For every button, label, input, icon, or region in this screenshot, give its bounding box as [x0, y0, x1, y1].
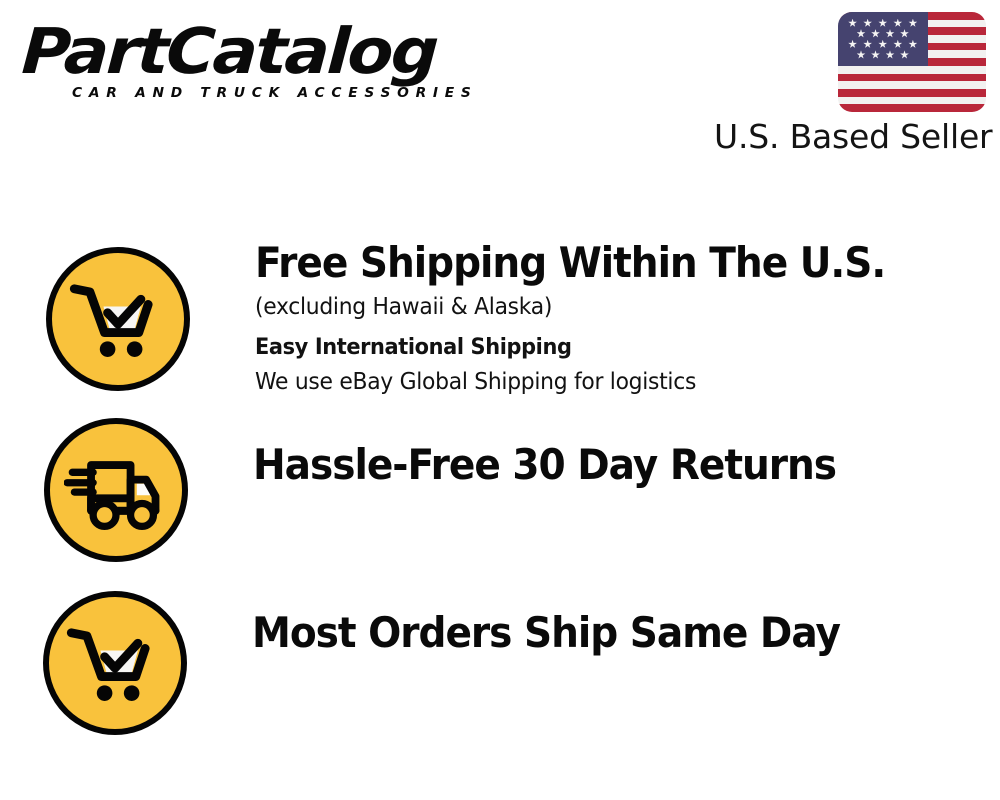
feature-row: Free Shipping Within The U.S. (excluding… — [0, 232, 1000, 404]
feature-list: Free Shipping Within The U.S. (excluding… — [0, 232, 1000, 747]
seller-label: U.S. Based Seller — [714, 117, 986, 157]
promo-banner: PartCatalog CAR AND TRUCK ACCESSORIES — [0, 0, 1000, 800]
shopping-cart-check-icon — [66, 267, 170, 371]
us-based-seller-badge: U.S. Based Seller — [714, 12, 986, 157]
feature-icon-badge — [44, 418, 188, 562]
feature-text-block: Free Shipping Within The U.S. (excluding… — [190, 232, 1000, 398]
brand-logo: PartCatalog CAR AND TRUCK ACCESSORIES — [22, 18, 492, 118]
feature-sub-heading: Easy International Shipping — [255, 332, 963, 364]
flag-canton — [838, 12, 928, 66]
shopping-cart-check-icon — [63, 611, 167, 715]
delivery-truck-icon — [64, 438, 168, 542]
feature-sub-text: We use eBay Global Shipping for logistic… — [255, 366, 963, 398]
feature-text-block: Most Orders Ship Same Day — [187, 575, 1000, 659]
feature-icon-badge — [46, 247, 190, 391]
us-flag-icon — [838, 12, 986, 112]
feature-headline: Free Shipping Within The U.S. — [255, 237, 948, 289]
feature-headline: Hassle-Free 30 Day Returns — [253, 439, 948, 491]
feature-headline: Most Orders Ship Same Day — [252, 607, 948, 659]
feature-row: Most Orders Ship Same Day — [0, 575, 1000, 747]
feature-row: Hassle-Free 30 Day Returns — [0, 404, 1000, 575]
feature-icon-badge — [43, 591, 187, 735]
brand-wordmark: PartCatalog — [20, 18, 522, 86]
feature-text-block: Hassle-Free 30 Day Returns — [188, 404, 1000, 491]
feature-note: (excluding Hawaii & Alaska) — [255, 291, 963, 323]
brand-tagline: CAR AND TRUCK ACCESSORIES — [72, 85, 500, 101]
